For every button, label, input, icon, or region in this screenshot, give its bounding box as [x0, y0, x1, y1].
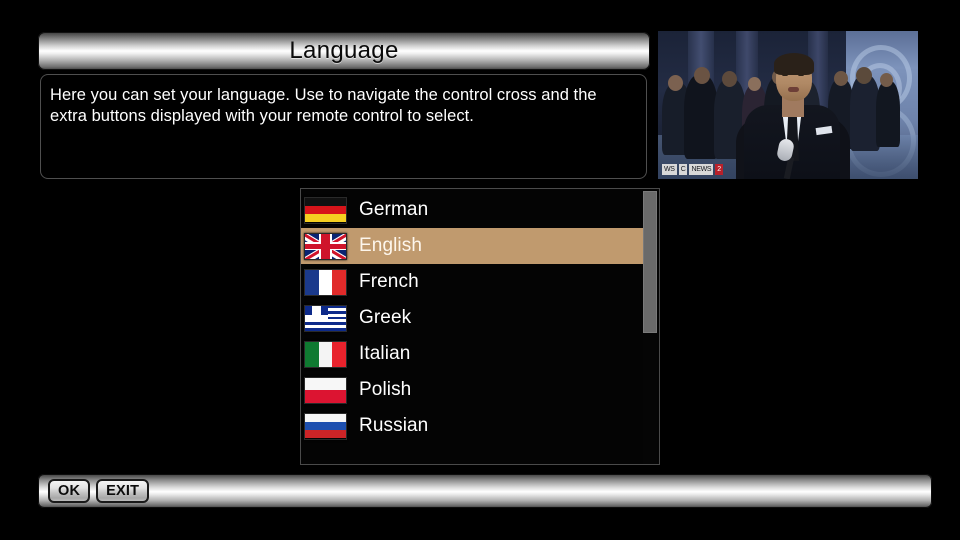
language-list-item-polish[interactable]: Polish	[301, 372, 643, 408]
channel-logo: WS C NEWS 2	[662, 164, 723, 175]
preview-crowd-person	[684, 75, 718, 159]
preview-crowd-head	[722, 71, 737, 87]
language-label: French	[359, 271, 419, 293]
page-title: Language	[289, 37, 398, 65]
help-description-box: Here you can set your language. Use to n…	[40, 74, 647, 179]
preview-crowd-head	[856, 67, 872, 84]
flag-greece-icon	[304, 305, 347, 332]
window-title-bar: Language	[38, 32, 650, 70]
ok-button[interactable]: OK	[48, 479, 90, 503]
scrollbar-thumb[interactable]	[643, 191, 657, 333]
language-list-item-german[interactable]: German	[301, 192, 643, 228]
language-list-scrollbar[interactable]	[643, 191, 657, 464]
preview-crowd-head	[834, 71, 848, 86]
channel-logo-part: WS	[662, 164, 677, 175]
channel-logo-part: NEWS	[689, 164, 713, 175]
help-description-text: Here you can set your language. Use to n…	[50, 85, 634, 127]
video-preview-frame: WS C NEWS 2	[658, 31, 918, 179]
language-label: Russian	[359, 415, 428, 437]
language-label: Italian	[359, 343, 410, 365]
preview-reporter-hair	[774, 53, 814, 75]
flag-italy-icon	[304, 341, 347, 368]
bottom-action-bar: OK EXIT	[38, 474, 932, 508]
channel-logo-part: 2	[715, 164, 723, 175]
flag-germany-icon	[304, 197, 347, 224]
language-label: Polish	[359, 379, 411, 401]
flag-poland-icon	[304, 377, 347, 404]
language-list-item-french[interactable]: French	[301, 264, 643, 300]
preview-crowd-head	[668, 75, 683, 91]
flag-russia-icon	[304, 413, 347, 440]
preview-reporter-eye	[782, 73, 788, 76]
language-list-item-italian[interactable]: Italian	[301, 336, 643, 372]
preview-crowd-person	[876, 81, 900, 147]
channel-logo-part: C	[679, 164, 688, 175]
preview-crowd-head	[880, 73, 893, 87]
language-label: English	[359, 235, 422, 257]
tv-settings-screen: Language Here you can set your language.…	[0, 0, 960, 540]
language-label: German	[359, 199, 428, 221]
flag-united-kingdom-icon	[304, 233, 347, 260]
exit-button[interactable]: EXIT	[96, 479, 149, 503]
language-list-item-greek[interactable]: Greek	[301, 300, 643, 336]
language-list-item-russian[interactable]: Russian	[301, 408, 643, 444]
language-label: Greek	[359, 307, 411, 329]
flag-france-icon	[304, 269, 347, 296]
video-preview[interactable]: WS C NEWS 2	[658, 31, 918, 179]
preview-crowd-head	[694, 67, 710, 84]
language-list: German English French	[301, 192, 643, 444]
preview-reporter-mouth	[788, 87, 799, 92]
language-list-item-english[interactable]: English	[301, 228, 643, 264]
preview-reporter-eye	[798, 73, 804, 76]
language-list-panel: German English French	[300, 188, 660, 465]
preview-crowd-head	[748, 77, 761, 91]
